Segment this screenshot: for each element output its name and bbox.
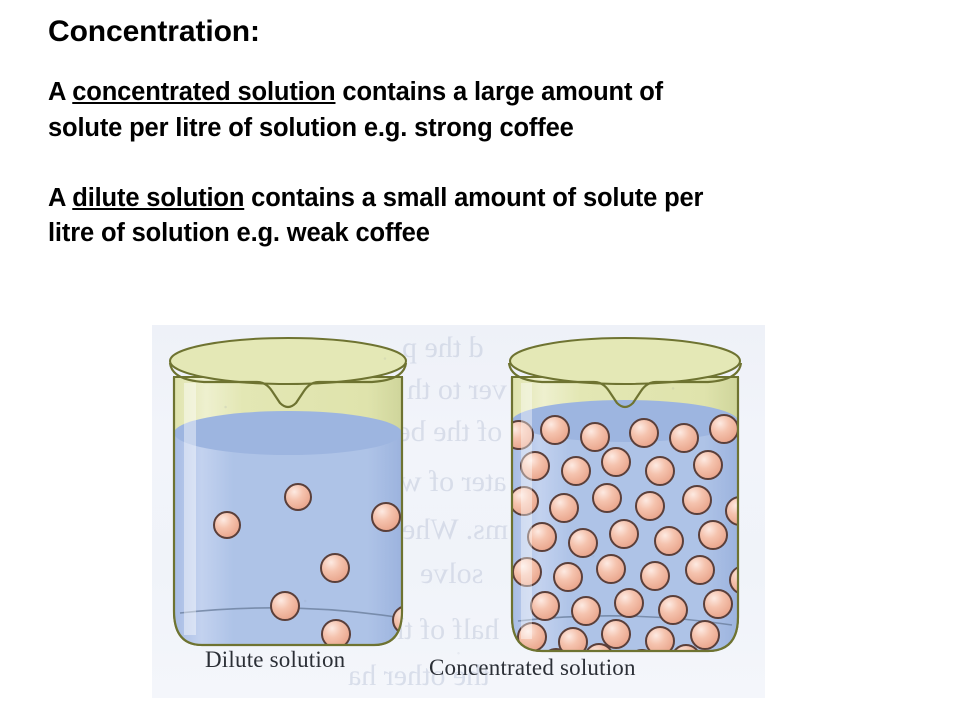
solute-sphere — [699, 521, 727, 549]
solute-sphere — [758, 646, 765, 674]
solute-sphere — [615, 589, 643, 617]
solute-sphere — [730, 566, 758, 594]
solute-sphere — [372, 503, 400, 531]
solute-sphere — [531, 592, 559, 620]
solute-sphere — [704, 590, 732, 618]
paragraph-dilute: A dilute solution contains a small amoun… — [48, 181, 928, 252]
solute-sphere — [393, 606, 421, 634]
dilute-liquid-surface — [174, 411, 402, 455]
paragraph-concentrated-lead: A — [48, 78, 72, 106]
solute-sphere — [670, 424, 698, 452]
beaker-illustration: d the p ver to th of the bea ater of w m… — [152, 325, 765, 698]
concentrated-glass-highlight — [521, 383, 532, 639]
solute-sphere — [735, 630, 763, 658]
concentrated-solution-caption: Concentrated solution — [429, 655, 636, 681]
solute-sphere — [610, 520, 638, 548]
dilute-glass-highlight — [184, 383, 196, 635]
dilute-beaker — [170, 338, 421, 648]
solute-sphere — [630, 419, 658, 447]
solute-sphere — [572, 597, 600, 625]
solute-sphere — [655, 527, 683, 555]
solute-sphere — [569, 529, 597, 557]
solute-sphere — [562, 457, 590, 485]
solute-sphere — [694, 451, 722, 479]
solute-sphere — [581, 423, 609, 451]
solute-sphere — [710, 415, 738, 443]
solute-sphere — [743, 531, 765, 559]
solute-sphere — [550, 494, 578, 522]
concentrated-rim — [510, 338, 740, 384]
solute-sphere — [554, 563, 582, 591]
dilute-liquid-group — [174, 411, 421, 648]
beakers-svg — [152, 325, 765, 698]
solute-sphere — [271, 592, 299, 620]
dilute-solution-caption: Dilute solution — [205, 647, 345, 673]
text-block: Concentration: A concentrated solution c… — [48, 14, 928, 252]
solute-sphere — [528, 523, 556, 551]
solute-sphere — [716, 651, 744, 679]
solute-sphere — [541, 416, 569, 444]
solute-sphere — [321, 554, 349, 582]
concentrated-beaker — [505, 338, 765, 679]
page-title: Concentration: — [48, 14, 928, 49]
solute-sphere — [285, 484, 311, 510]
solute-sphere — [636, 492, 664, 520]
slide-canvas: Concentration: A concentrated solution c… — [0, 0, 960, 720]
term-concentrated-solution: concentrated solution — [72, 78, 335, 106]
dilute-rim — [170, 338, 406, 384]
solute-sphere — [602, 620, 630, 648]
solute-sphere — [672, 645, 700, 673]
solute-sphere — [726, 497, 754, 525]
solute-sphere — [748, 599, 765, 627]
solute-sphere — [322, 620, 350, 648]
solute-sphere — [659, 596, 687, 624]
solute-sphere — [214, 512, 240, 538]
solute-sphere — [593, 484, 621, 512]
solute-sphere — [597, 555, 625, 583]
solute-sphere — [691, 621, 719, 649]
solute-sphere — [745, 429, 765, 457]
solute-sphere — [738, 462, 765, 490]
solute-sphere — [641, 562, 669, 590]
term-dilute-solution: dilute solution — [72, 184, 244, 212]
concentrated-liquid-group — [505, 400, 765, 679]
solute-sphere — [602, 448, 630, 476]
paragraph-dilute-lead: A — [48, 184, 72, 212]
solute-sphere — [686, 556, 714, 584]
solute-sphere — [683, 486, 711, 514]
solute-sphere — [646, 457, 674, 485]
paragraph-concentrated: A concentrated solution contains a large… — [48, 75, 928, 146]
